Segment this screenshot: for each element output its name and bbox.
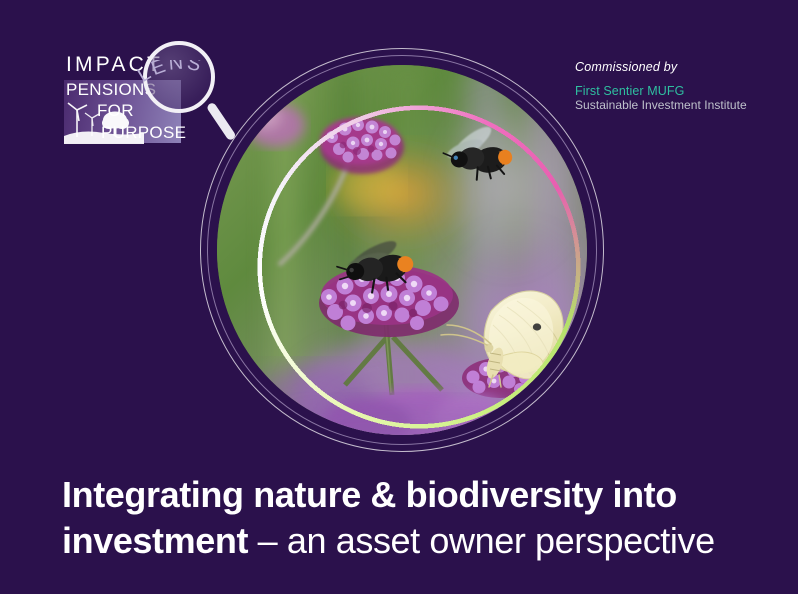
page-title-light: – an asset owner perspective bbox=[248, 520, 715, 561]
nature-photo-illustration bbox=[217, 65, 587, 435]
wind-turbine-tree-icon bbox=[64, 100, 144, 144]
report-cover: IMPACT bbox=[0, 0, 798, 594]
hero-photo bbox=[217, 65, 587, 435]
hero-image-circle bbox=[200, 48, 604, 452]
commissioned-by-label: Commissioned by bbox=[575, 60, 750, 75]
commissioned-by-block: Commissioned by First Sentier MUFG Susta… bbox=[575, 60, 750, 113]
page-title: Integrating nature & biodiversity into i… bbox=[62, 472, 762, 564]
commissioner-subtitle: Sustainable Investment Institute bbox=[575, 98, 750, 112]
commissioner-brand-name: First Sentier MUFG bbox=[575, 84, 750, 98]
logo-artwork bbox=[64, 100, 144, 144]
